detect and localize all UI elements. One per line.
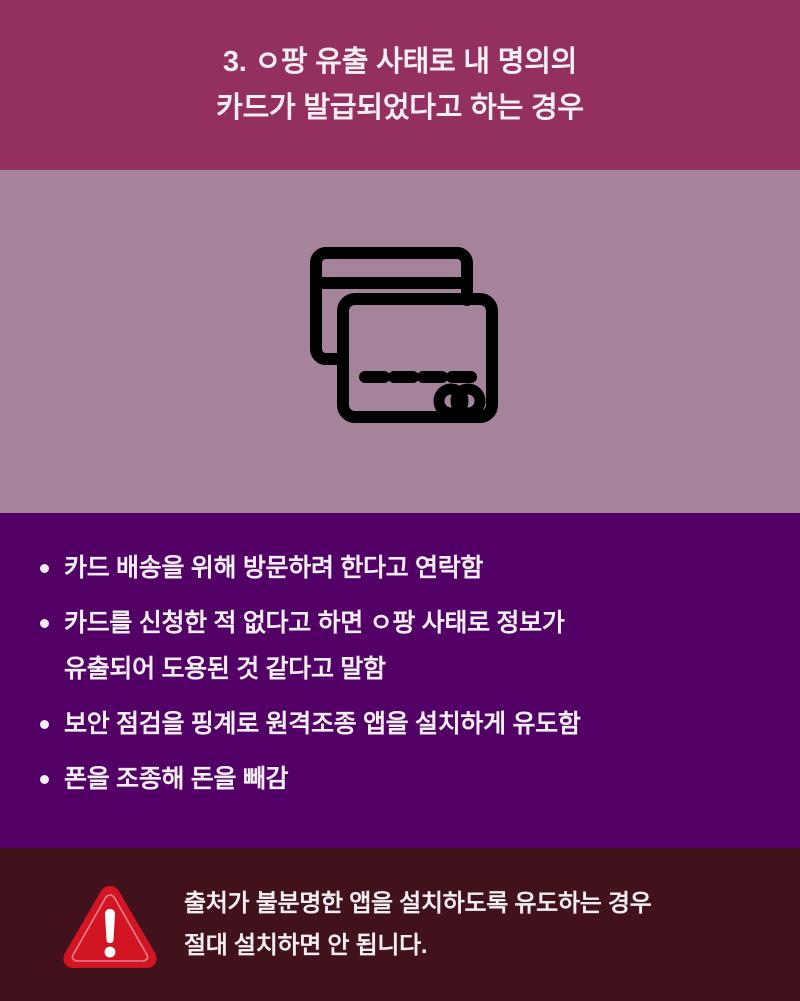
header-band: 3. ㅇ팡 유출 사태로 내 명의의 카드가 발급되었다고 하는 경우 (0, 0, 800, 170)
list-item: 폰을 조종해 돈을 빼감 (30, 756, 770, 802)
header-title-line-2: 카드가 발급되었다고 하는 경우 (216, 85, 584, 131)
bullet-dot-icon (40, 564, 49, 573)
illustration-band (0, 170, 800, 513)
list-item-text: 카드 배송을 위해 방문하려 한다고 연락함 (64, 545, 770, 591)
credit-cards-icon (280, 235, 528, 451)
list-item: 카드를 신청한 적 없다고 하면 ㅇ팡 사태로 정보가 유출되어 도용된 것 같… (30, 600, 770, 692)
bullet-dot-icon (40, 619, 49, 628)
warning-message: 출처가 불분명한 앱을 설치하도록 유도하는 경우 절대 설치하면 안 됩니다. (184, 883, 651, 967)
warning-triangle-icon (58, 879, 162, 973)
list-item-text: 보안 점검을 핑계로 원격조종 앱을 설치하게 유도함 (64, 701, 770, 747)
warning-line-1: 출처가 불분명한 앱을 설치하도록 유도하는 경우 (184, 883, 651, 925)
list-item-text: 카드를 신청한 적 없다고 하면 ㅇ팡 사태로 정보가 (64, 600, 770, 646)
list-item-text-continued: 유출되어 도용된 것 같다고 말함 (64, 646, 770, 692)
infographic-poster: 3. ㅇ팡 유출 사태로 내 명의의 카드가 발급되었다고 하는 경우 (0, 0, 800, 1001)
bullet-band: 카드 배송을 위해 방문하려 한다고 연락함 카드를 신청한 적 없다고 하면 … (0, 513, 800, 848)
header-title-line-1: 3. ㅇ팡 유출 사태로 내 명의의 (223, 39, 577, 85)
list-item: 카드 배송을 위해 방문하려 한다고 연락함 (30, 545, 770, 591)
bullet-dot-icon (40, 775, 49, 784)
list-item: 보안 점검을 핑계로 원격조종 앱을 설치하게 유도함 (30, 701, 770, 747)
warning-line-2: 절대 설치하면 안 됩니다. (184, 925, 651, 967)
list-item-text: 폰을 조종해 돈을 빼감 (64, 756, 770, 802)
bullet-dot-icon (40, 720, 49, 729)
scam-steps-list: 카드 배송을 위해 방문하려 한다고 연락함 카드를 신청한 적 없다고 하면 … (30, 545, 770, 802)
warning-band: 출처가 불분명한 앱을 설치하도록 유도하는 경우 절대 설치하면 안 됩니다. (0, 848, 800, 1001)
